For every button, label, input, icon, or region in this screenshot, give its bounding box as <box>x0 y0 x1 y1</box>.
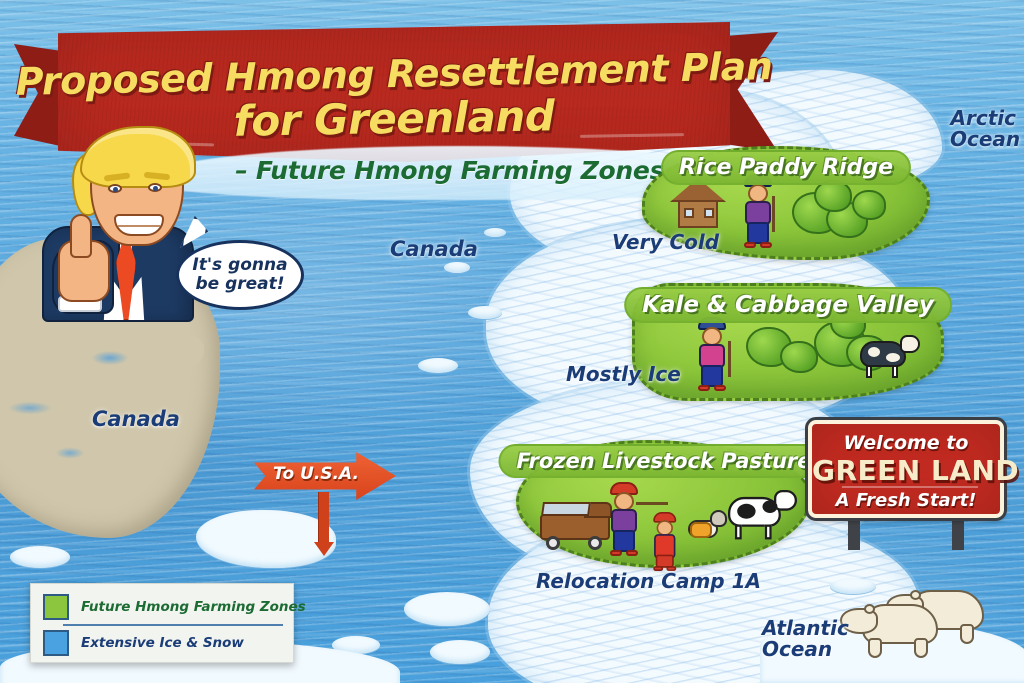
cow-icon <box>860 335 924 383</box>
hmong-farmer-icon <box>694 317 734 395</box>
hmong-farmer-icon <box>606 482 646 560</box>
ice-floe <box>444 262 470 273</box>
speech-bubble-text: It's gonna be great! <box>192 256 287 294</box>
ice-floe <box>418 358 458 373</box>
welcome-line2: GREEN LAND <box>812 454 1000 487</box>
smiling-mouth <box>114 214 164 236</box>
blond-hair <box>80 126 196 188</box>
polar-bear-icon <box>862 594 942 660</box>
pupil-left <box>113 187 118 192</box>
welcome-line3: A Fresh Start! <box>812 490 1000 511</box>
zone-label-text: Kale & Cabbage Valley <box>642 292 934 318</box>
billboard-board: Welcome to GREEN LAND A Fresh Start! <box>808 420 1004 518</box>
dog-icon <box>688 510 730 550</box>
zone-label-text: Frozen Livestock Pasture <box>516 449 811 473</box>
speech-bubble: It's gonna be great! <box>176 240 304 310</box>
to-usa-signpost[interactable]: To U.S.A. <box>254 452 396 548</box>
legend-label-farming-zones: Future Hmong Farming Zones <box>81 599 306 615</box>
cow-icon <box>728 490 815 561</box>
welcome-divider <box>842 486 978 488</box>
zone-label-rice-paddy-ridge: Rice Paddy Ridge <box>661 150 911 185</box>
zone-frozen-livestock-pasture[interactable]: Frozen Livestock Pasture <box>516 440 812 568</box>
ice-floe <box>404 592 490 626</box>
zone-label-kale-cabbage-valley: Kale & Cabbage Valley <box>624 287 952 323</box>
welcome-line1: Welcome to <box>812 432 1000 454</box>
legend-item-farming-zones: Future Hmong Farming Zones <box>43 594 306 620</box>
poster-canvas: Proposed Hmong Resettlement Plan for Gre… <box>0 0 1024 683</box>
cabbage-crop-icon <box>852 190 886 220</box>
billboard-leg-right <box>952 516 964 550</box>
legend-divider <box>63 624 283 626</box>
pupil-right <box>153 186 158 191</box>
welcome-billboard[interactable]: Welcome to GREEN LAND A Fresh Start! <box>808 420 1004 550</box>
thumb-icon <box>70 214 92 258</box>
to-usa-label: To U.S.A. <box>258 464 374 484</box>
loaded-truck-icon <box>540 500 616 552</box>
ice-floe <box>468 306 502 319</box>
signpost-pole <box>318 492 329 546</box>
legend-swatch-blue <box>43 630 69 656</box>
kale-crop-icon <box>780 341 818 373</box>
ice-floe <box>484 228 506 237</box>
zone-label-frozen-livestock-pasture: Frozen Livestock Pasture <box>498 444 829 478</box>
legend-label-ice-snow: Extensive Ice & Snow <box>81 635 244 651</box>
hmong-farmer-icon <box>740 174 780 252</box>
label-very-cold: Very Cold <box>612 232 719 253</box>
billboard-leg-left <box>848 516 860 550</box>
label-relocation-camp: Relocation Camp 1A <box>536 571 761 592</box>
label-canada-north: Canada <box>390 238 478 260</box>
hmong-child-icon <box>650 512 675 556</box>
legend-swatch-green <box>43 594 69 620</box>
legend-item-ice-snow: Extensive Ice & Snow <box>43 630 244 656</box>
ice-floe <box>430 640 490 664</box>
map-legend: Future Hmong Farming Zones Extensive Ice… <box>30 583 294 663</box>
zone-label-text: Rice Paddy Ridge <box>679 155 893 180</box>
ice-floe <box>830 578 876 594</box>
farm-hut-icon <box>670 178 726 230</box>
ice-floe <box>10 546 70 568</box>
label-canada-west: Canada <box>92 408 180 430</box>
label-arctic-ocean: Arctic Ocean <box>950 108 1016 150</box>
label-atlantic-ocean: Atlantic Ocean <box>762 618 849 660</box>
label-mostly-ice: Mostly Ice <box>566 364 681 385</box>
